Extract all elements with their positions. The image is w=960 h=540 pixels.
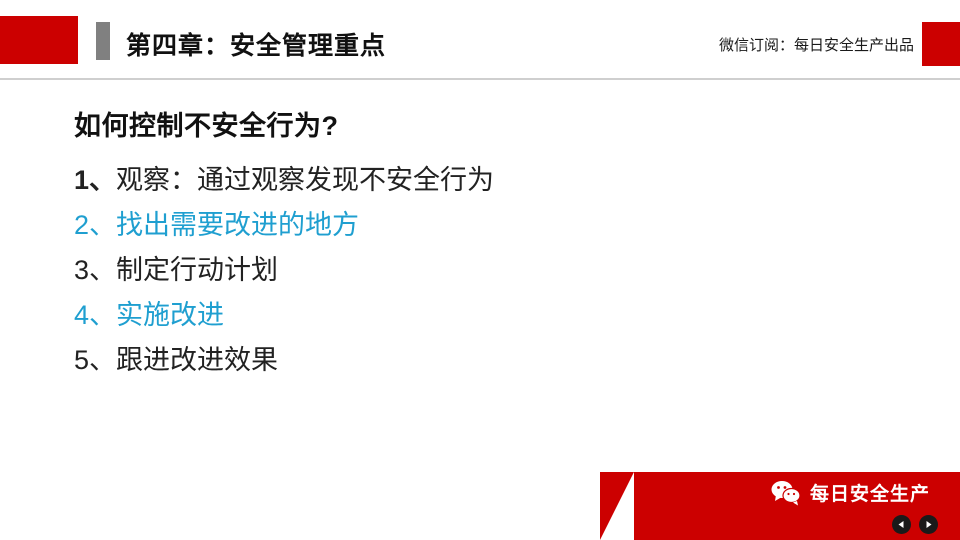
next-slide-icon[interactable]	[919, 515, 938, 534]
list-item-number: 4、	[74, 300, 116, 330]
header-left-red-block	[0, 16, 78, 64]
subscribe-note: 微信订阅：每日安全生产出品	[719, 34, 914, 55]
list-item-label: 找出需要改进的地方	[116, 210, 359, 240]
list-item-number: 2、	[74, 210, 116, 240]
footer-brand-label: 每日安全生产	[810, 479, 930, 506]
header-divider	[0, 78, 960, 80]
header-right-red-block	[922, 22, 960, 66]
header-gray-accent-bar	[96, 22, 110, 60]
list-item: 1、观察：通过观察发现不安全行为	[74, 158, 874, 203]
content-heading: 如何控制不安全行为?	[74, 104, 339, 143]
list-item-label: 跟进改进效果	[116, 345, 278, 375]
list-item: 2、找出需要改进的地方	[74, 203, 874, 248]
slide: 第四章：安全管理重点 微信订阅：每日安全生产出品 如何控制不安全行为? 1、观察…	[0, 0, 960, 540]
list-item-number: 1、	[74, 165, 116, 195]
list-item-label: 观察：通过观察发现不安全行为	[116, 165, 494, 195]
list-item-label: 制定行动计划	[116, 255, 278, 285]
wechat-icon	[771, 480, 801, 506]
list-item: 3、制定行动计划	[74, 248, 874, 293]
numbered-list: 1、观察：通过观察发现不安全行为 2、找出需要改进的地方 3、制定行动计划 4、…	[74, 158, 874, 383]
wechat-brand-badge: 每日安全生产	[771, 479, 930, 506]
list-item-number: 3、	[74, 255, 116, 285]
list-item: 4、实施改进	[74, 293, 874, 338]
footer-white-wedge	[0, 472, 600, 540]
prev-slide-icon[interactable]	[892, 515, 911, 534]
slide-navigation[interactable]	[892, 515, 938, 534]
list-item-number: 5、	[74, 345, 116, 375]
list-item-label: 实施改进	[116, 300, 224, 330]
list-item: 5、跟进改进效果	[74, 338, 874, 383]
page-title: 第四章：安全管理重点	[126, 26, 386, 62]
